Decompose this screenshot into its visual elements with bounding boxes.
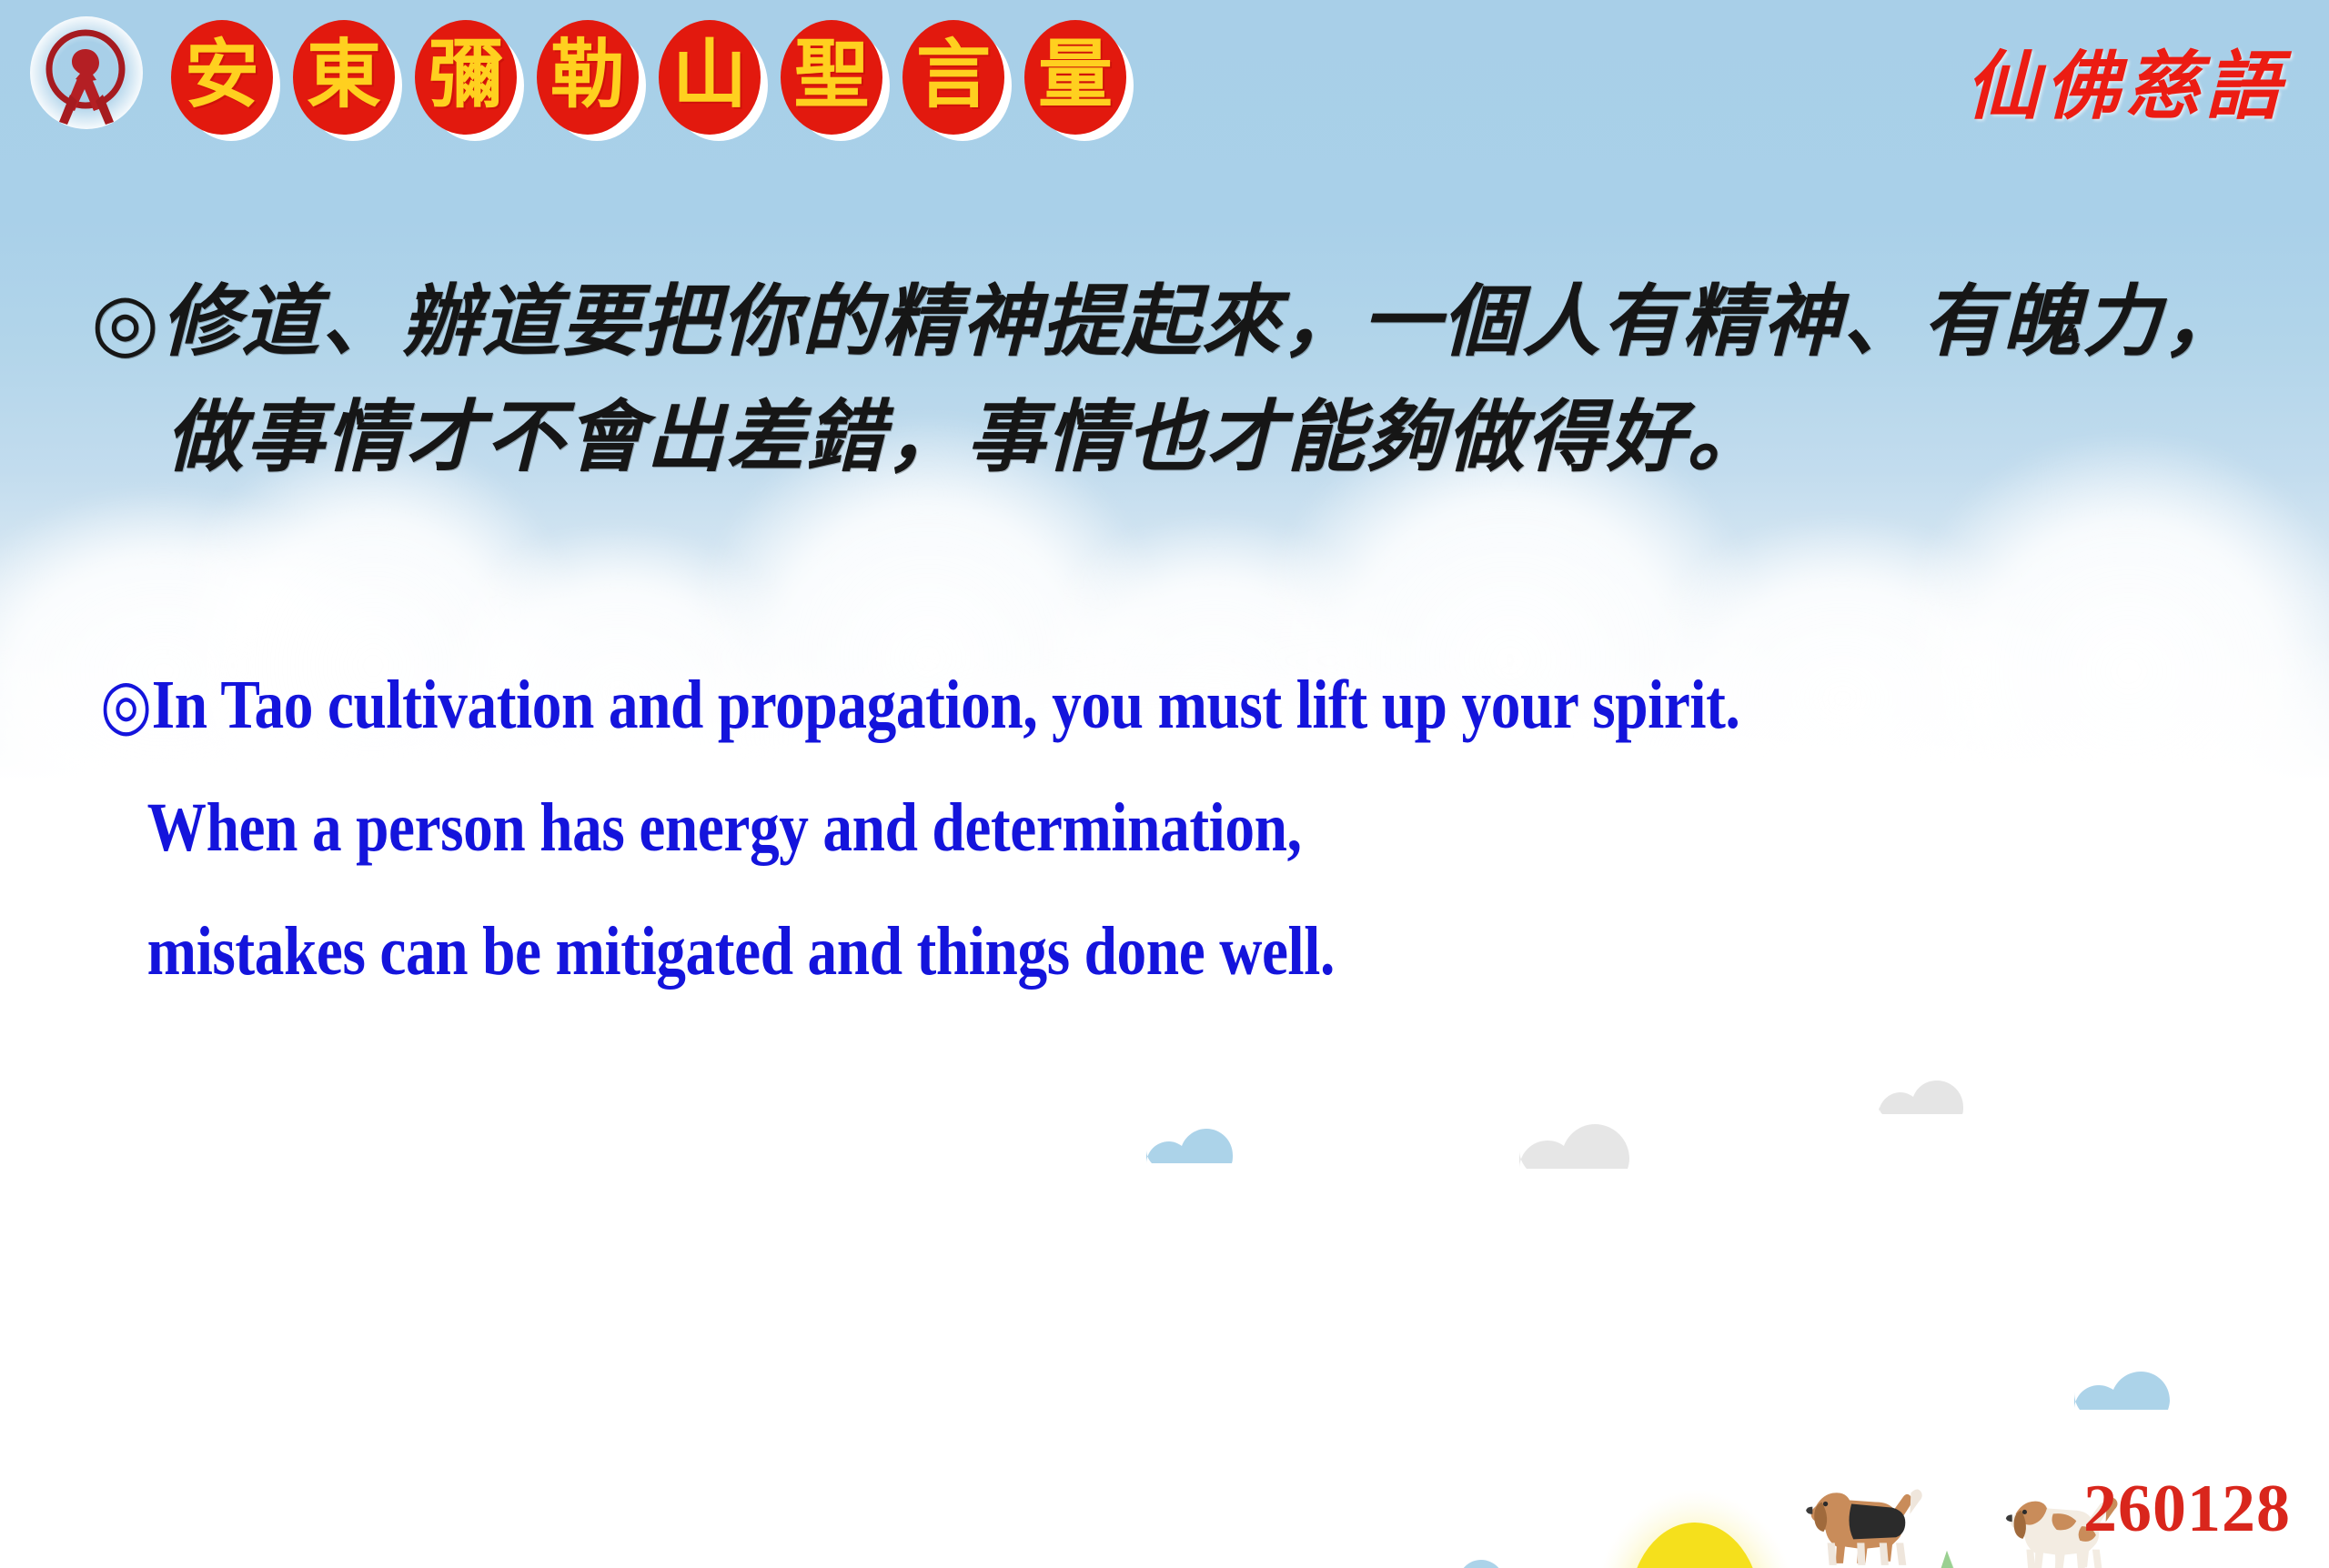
english-quote-line-2: When a person has energy and determinati… <box>0 767 1917 890</box>
mountain-range <box>992 1551 2165 1568</box>
header-bar: 安 東 彌 勒 山 聖 言 量 仙佛慈語 <box>0 0 2329 164</box>
title-badge-char-7: 言 <box>916 38 991 113</box>
english-quote-line-1: ◎In Tao cultivation and propagation, you… <box>0 642 1917 767</box>
title-badge-6: 聖 <box>781 20 882 135</box>
title-badge-char-8: 量 <box>1038 38 1113 113</box>
dog-beagle-dark <box>1806 1489 1922 1564</box>
scene-clouds <box>910 1081 2170 1568</box>
title-badge-char-5: 山 <box>672 38 747 113</box>
title-badge-7: 言 <box>902 20 1004 135</box>
bullet-ring-icon: ◎ <box>100 663 152 744</box>
english-quote-line-1-text: In Tao cultivation and propagation, you … <box>152 667 1740 743</box>
slide-serial-number: 260128 <box>2083 1471 2291 1548</box>
english-quote-block: ◎In Tao cultivation and propagation, you… <box>0 642 2229 1013</box>
chinese-quote-line-1: ◎修道、辦道要把你的精神提起來，一個人有精神、有魄力， <box>0 264 2183 379</box>
title-badge-char-1: 安 <box>185 38 259 113</box>
title-badge-5: 山 <box>659 20 761 135</box>
slide-canvas: 安 東 彌 勒 山 聖 言 量 仙佛慈語 ◎修道、辦道要把你的精神提起來，一個人… <box>0 0 2329 1568</box>
title-badge-char-3: 彌 <box>428 38 503 113</box>
title-badge-char-4: 勒 <box>550 38 625 113</box>
title-badge-8: 量 <box>1024 20 1126 135</box>
title-badge-char-6: 聖 <box>794 38 869 113</box>
sun <box>1593 1490 1797 1568</box>
chinese-quote-line-2: 做事情才不會出差錯，事情也才能夠做得好。 <box>0 379 2183 495</box>
chinese-quote-block: ◎修道、辦道要把你的精神提起來，一個人有精神、有魄力， 做事情才不會出差錯，事情… <box>0 264 2183 496</box>
organization-logo-icon <box>27 16 146 135</box>
title-badge-1: 安 <box>171 20 273 135</box>
title-badge-char-2: 東 <box>307 38 381 113</box>
title-badge-4: 勒 <box>537 20 639 135</box>
title-badge-3: 彌 <box>415 20 517 135</box>
title-badge-2: 東 <box>293 20 395 135</box>
title-badge-row: 安 東 彌 勒 山 聖 言 量 <box>171 20 1126 135</box>
brand-title: 仙佛慈語 <box>1965 25 2285 134</box>
